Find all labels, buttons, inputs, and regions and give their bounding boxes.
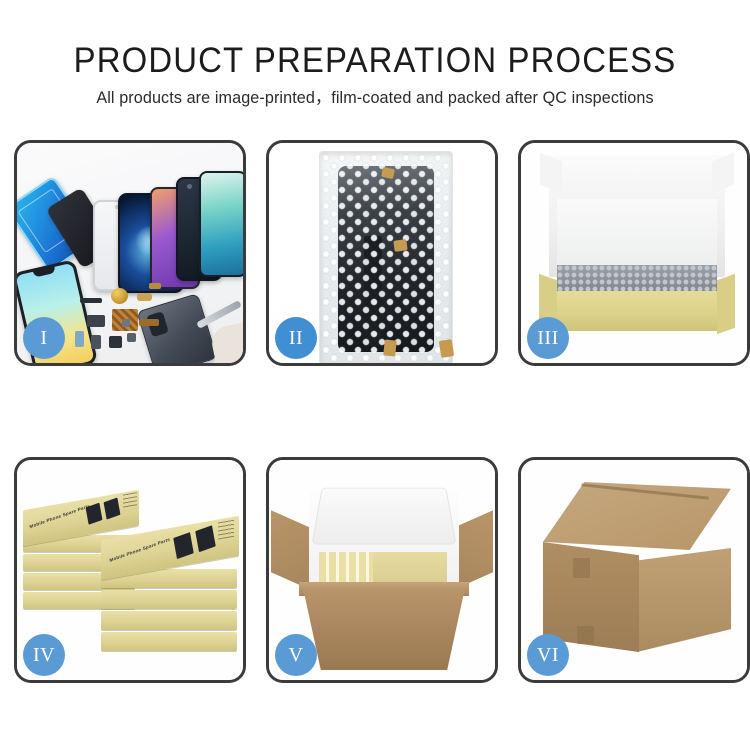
box-label: Mobile Phone Spare Parts [109,537,170,563]
box-screen-graphic [104,498,121,520]
vibration-motor-part [111,288,128,304]
technician-hand [209,321,243,363]
step-badge-6: VI [527,634,569,676]
box-stack-item [101,611,237,630]
carton-tab [577,626,594,644]
phone-teal-gradient-display [199,171,243,277]
tape-strip [383,339,397,356]
box-screen-graphic [195,525,216,552]
carton-tab [573,558,590,578]
process-step-6: VI [518,457,750,683]
box-label: Mobile Phone Spare Parts [29,503,90,529]
bubble-texture [322,154,450,362]
product-preparation-infographic: PRODUCT PREPARATION PROCESS All products… [0,0,750,750]
process-step-4: Mobile Phone Spare Parts Mobile Phone Sp… [14,457,246,683]
antenna-strip-part [139,319,159,326]
sim-tray-part [75,331,84,347]
box-yellow-base [547,291,727,331]
process-step-5: V [266,457,498,683]
page-title: PRODUCT PREPARATION PROCESS [23,42,728,80]
gold-connector-part [137,293,152,301]
process-step-1: I [14,140,246,366]
box-foam-liner [557,199,717,273]
speaker-part [91,335,101,349]
step-badge-4: IV [23,634,65,676]
step-badge-2: II [275,317,317,359]
flex-cable-part [80,298,102,303]
tape-strip [439,339,454,358]
bubble-bag [319,151,453,363]
process-step-3: III [518,140,750,366]
battery-connector-part [109,336,122,348]
page-subtitle: All products are image-printed，film-coat… [8,88,743,108]
box-stack-item [101,632,237,651]
tape-strip [381,167,395,179]
box-stack-item [101,590,237,609]
box-spec-lines [123,492,137,510]
phone-rear-housing [136,293,217,363]
gold-contact-part [149,283,161,289]
process-step-grid: I II [0,140,750,685]
tape-strip [393,239,407,252]
box-spec-lines [218,520,234,541]
box-screen-graphic [173,532,194,559]
foam-lid [312,488,457,545]
carton-right-face [637,548,731,652]
button-part [122,319,130,327]
small-ic-part [127,333,136,342]
box-screen-graphic [86,503,103,525]
step-badge-3: III [527,317,569,359]
step-badge-5: V [275,634,317,676]
carton-body [303,588,465,670]
step-badge-1: I [23,317,65,359]
camera-module-part [87,315,105,327]
process-step-2: II [266,140,498,366]
